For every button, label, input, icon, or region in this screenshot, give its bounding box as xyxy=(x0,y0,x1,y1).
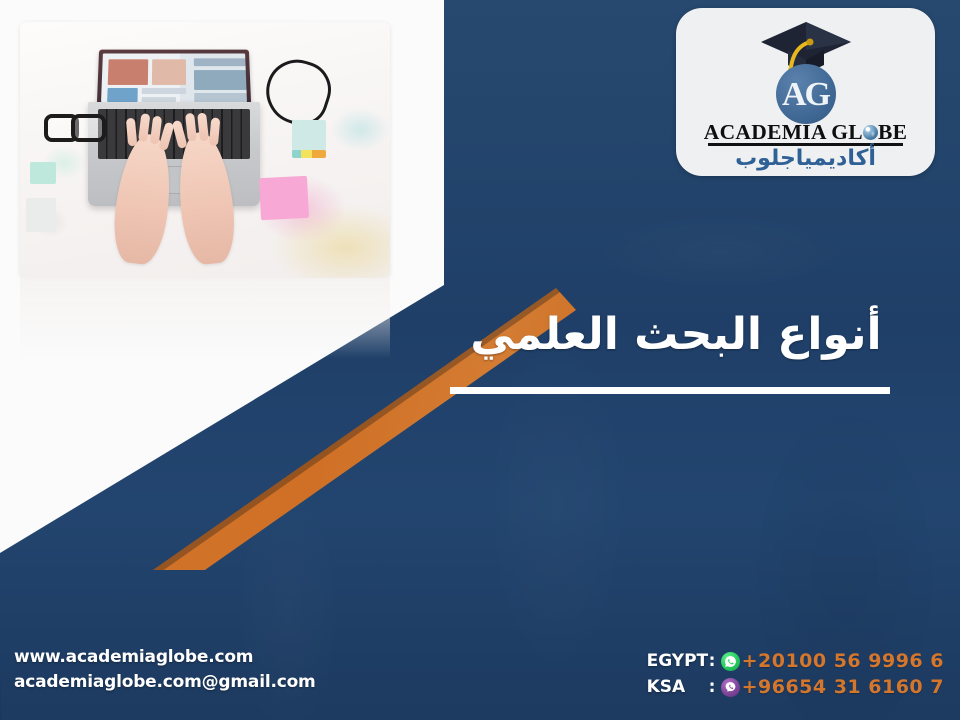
sticky-note xyxy=(30,162,56,184)
screen-thumb xyxy=(152,59,186,85)
website-link[interactable]: www.academiaglobe.com xyxy=(14,645,316,670)
phone-country-ksa: KSA xyxy=(647,677,709,697)
laptop-screen xyxy=(97,50,251,106)
page-title: أنواع البحث العلمي xyxy=(446,310,906,361)
sticky-note xyxy=(259,176,309,220)
footer-phones: EGYPT : +20100 56 9996 6 KSA : +96654 31… xyxy=(647,648,944,700)
email-link[interactable]: academiaglobe.com@gmail.com xyxy=(14,670,316,695)
logo-name-part1: ACADEMIA GL xyxy=(704,120,863,144)
logo-card[interactable]: AG ACADEMIA GLBE أكاديمياجلوب xyxy=(676,8,935,176)
laptop-photo xyxy=(20,22,390,278)
screen-thumb xyxy=(194,93,247,102)
phone-row-ksa: KSA : +96654 31 6160 7 xyxy=(647,674,944,700)
photo-reflection xyxy=(20,278,390,366)
screen-thumb xyxy=(194,58,246,66)
presentation-slide: AG ACADEMIA GLBE أكاديمياجلوب أنواع البح… xyxy=(0,0,960,720)
logo-wordmark: ACADEMIA GLBE xyxy=(676,120,935,145)
viber-icon[interactable] xyxy=(721,678,740,697)
ag-monogram-badge: AG xyxy=(776,64,836,124)
ag-monogram-text: AG xyxy=(782,78,829,112)
logo-arabic-name: أكاديمياجلوب xyxy=(676,146,935,171)
title-block: أنواع البحث العلمي xyxy=(446,310,906,361)
phone-number-ksa[interactable]: +96654 31 6160 7 xyxy=(742,676,944,698)
finger xyxy=(138,113,150,142)
sticky-note xyxy=(26,198,56,232)
laptop-body xyxy=(88,102,260,206)
phone-country-egypt: EGYPT xyxy=(647,651,709,671)
screen-thumb xyxy=(194,70,247,90)
screen-content xyxy=(101,53,247,102)
sticky-note-tabs xyxy=(292,150,326,158)
screen-thumb xyxy=(108,59,149,85)
footer-contact-left: www.academiaglobe.com academiaglobe.com@… xyxy=(14,645,316,694)
whatsapp-icon[interactable] xyxy=(721,652,740,671)
phone-colon: : xyxy=(709,651,721,671)
screen-thumb xyxy=(142,88,186,94)
title-underline xyxy=(450,387,890,394)
phone-colon: : xyxy=(709,677,721,697)
eyeglasses-icon xyxy=(44,114,106,136)
lens xyxy=(71,114,106,142)
phone-number-egypt[interactable]: +20100 56 9996 6 xyxy=(742,650,944,672)
photo-image xyxy=(20,22,390,278)
sticky-note xyxy=(292,120,326,154)
globe-icon xyxy=(863,125,878,140)
screen-thumb xyxy=(107,88,138,102)
phone-row-egypt: EGYPT : +20100 56 9996 6 xyxy=(647,648,944,674)
logo-name-part2: BE xyxy=(878,120,907,144)
